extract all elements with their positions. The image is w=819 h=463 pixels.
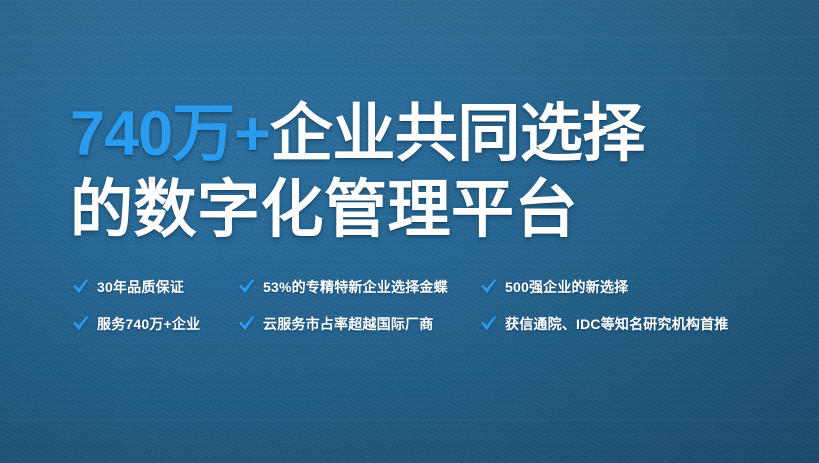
check-icon xyxy=(480,278,497,295)
feature-bullet-label: 500强企业的新选择 xyxy=(505,277,628,297)
feature-bullet-3: 500强企业的新选择 xyxy=(480,268,729,305)
check-icon xyxy=(72,278,89,295)
feature-bullet-grid: 30年品质保证 53%的专精特新企业选择金蝶 500强企业的新选择 xyxy=(72,268,729,342)
check-icon xyxy=(480,315,497,332)
feature-bullet-1: 30年品质保证 xyxy=(72,268,238,305)
feature-bullet-5: 云服务市占率超越国际厂商 xyxy=(238,305,480,342)
banner-headline: 740万+企业共同选择 的数字化管理平台 xyxy=(70,96,645,248)
feature-bullet-label: 30年品质保证 xyxy=(97,277,184,297)
headline-line1-text: 企业共同选择 xyxy=(270,99,645,169)
headline-line2-text: 的数字化管理平台 xyxy=(70,172,645,248)
feature-bullet-label: 服务740万+企业 xyxy=(97,314,200,334)
headline-accent-metric: 740万+ xyxy=(70,99,270,169)
banner-content: 740万+企业共同选择 的数字化管理平台 30年品质保证 53%的专精特新企 xyxy=(0,0,819,463)
feature-bullet-label: 云服务市占率超越国际厂商 xyxy=(263,314,433,334)
check-icon xyxy=(238,315,255,332)
feature-bullet-label: 获信通院、IDC等知名研究机构首推 xyxy=(505,314,729,334)
check-icon xyxy=(72,315,89,332)
check-icon xyxy=(238,278,255,295)
feature-bullet-6: 获信通院、IDC等知名研究机构首推 xyxy=(480,305,729,342)
promo-banner: 740万+企业共同选择 的数字化管理平台 30年品质保证 53%的专精特新企 xyxy=(0,0,819,463)
feature-bullet-2: 53%的专精特新企业选择金蝶 xyxy=(238,268,480,305)
feature-bullet-4: 服务740万+企业 xyxy=(72,305,238,342)
feature-bullet-label: 53%的专精特新企业选择金蝶 xyxy=(263,277,448,297)
